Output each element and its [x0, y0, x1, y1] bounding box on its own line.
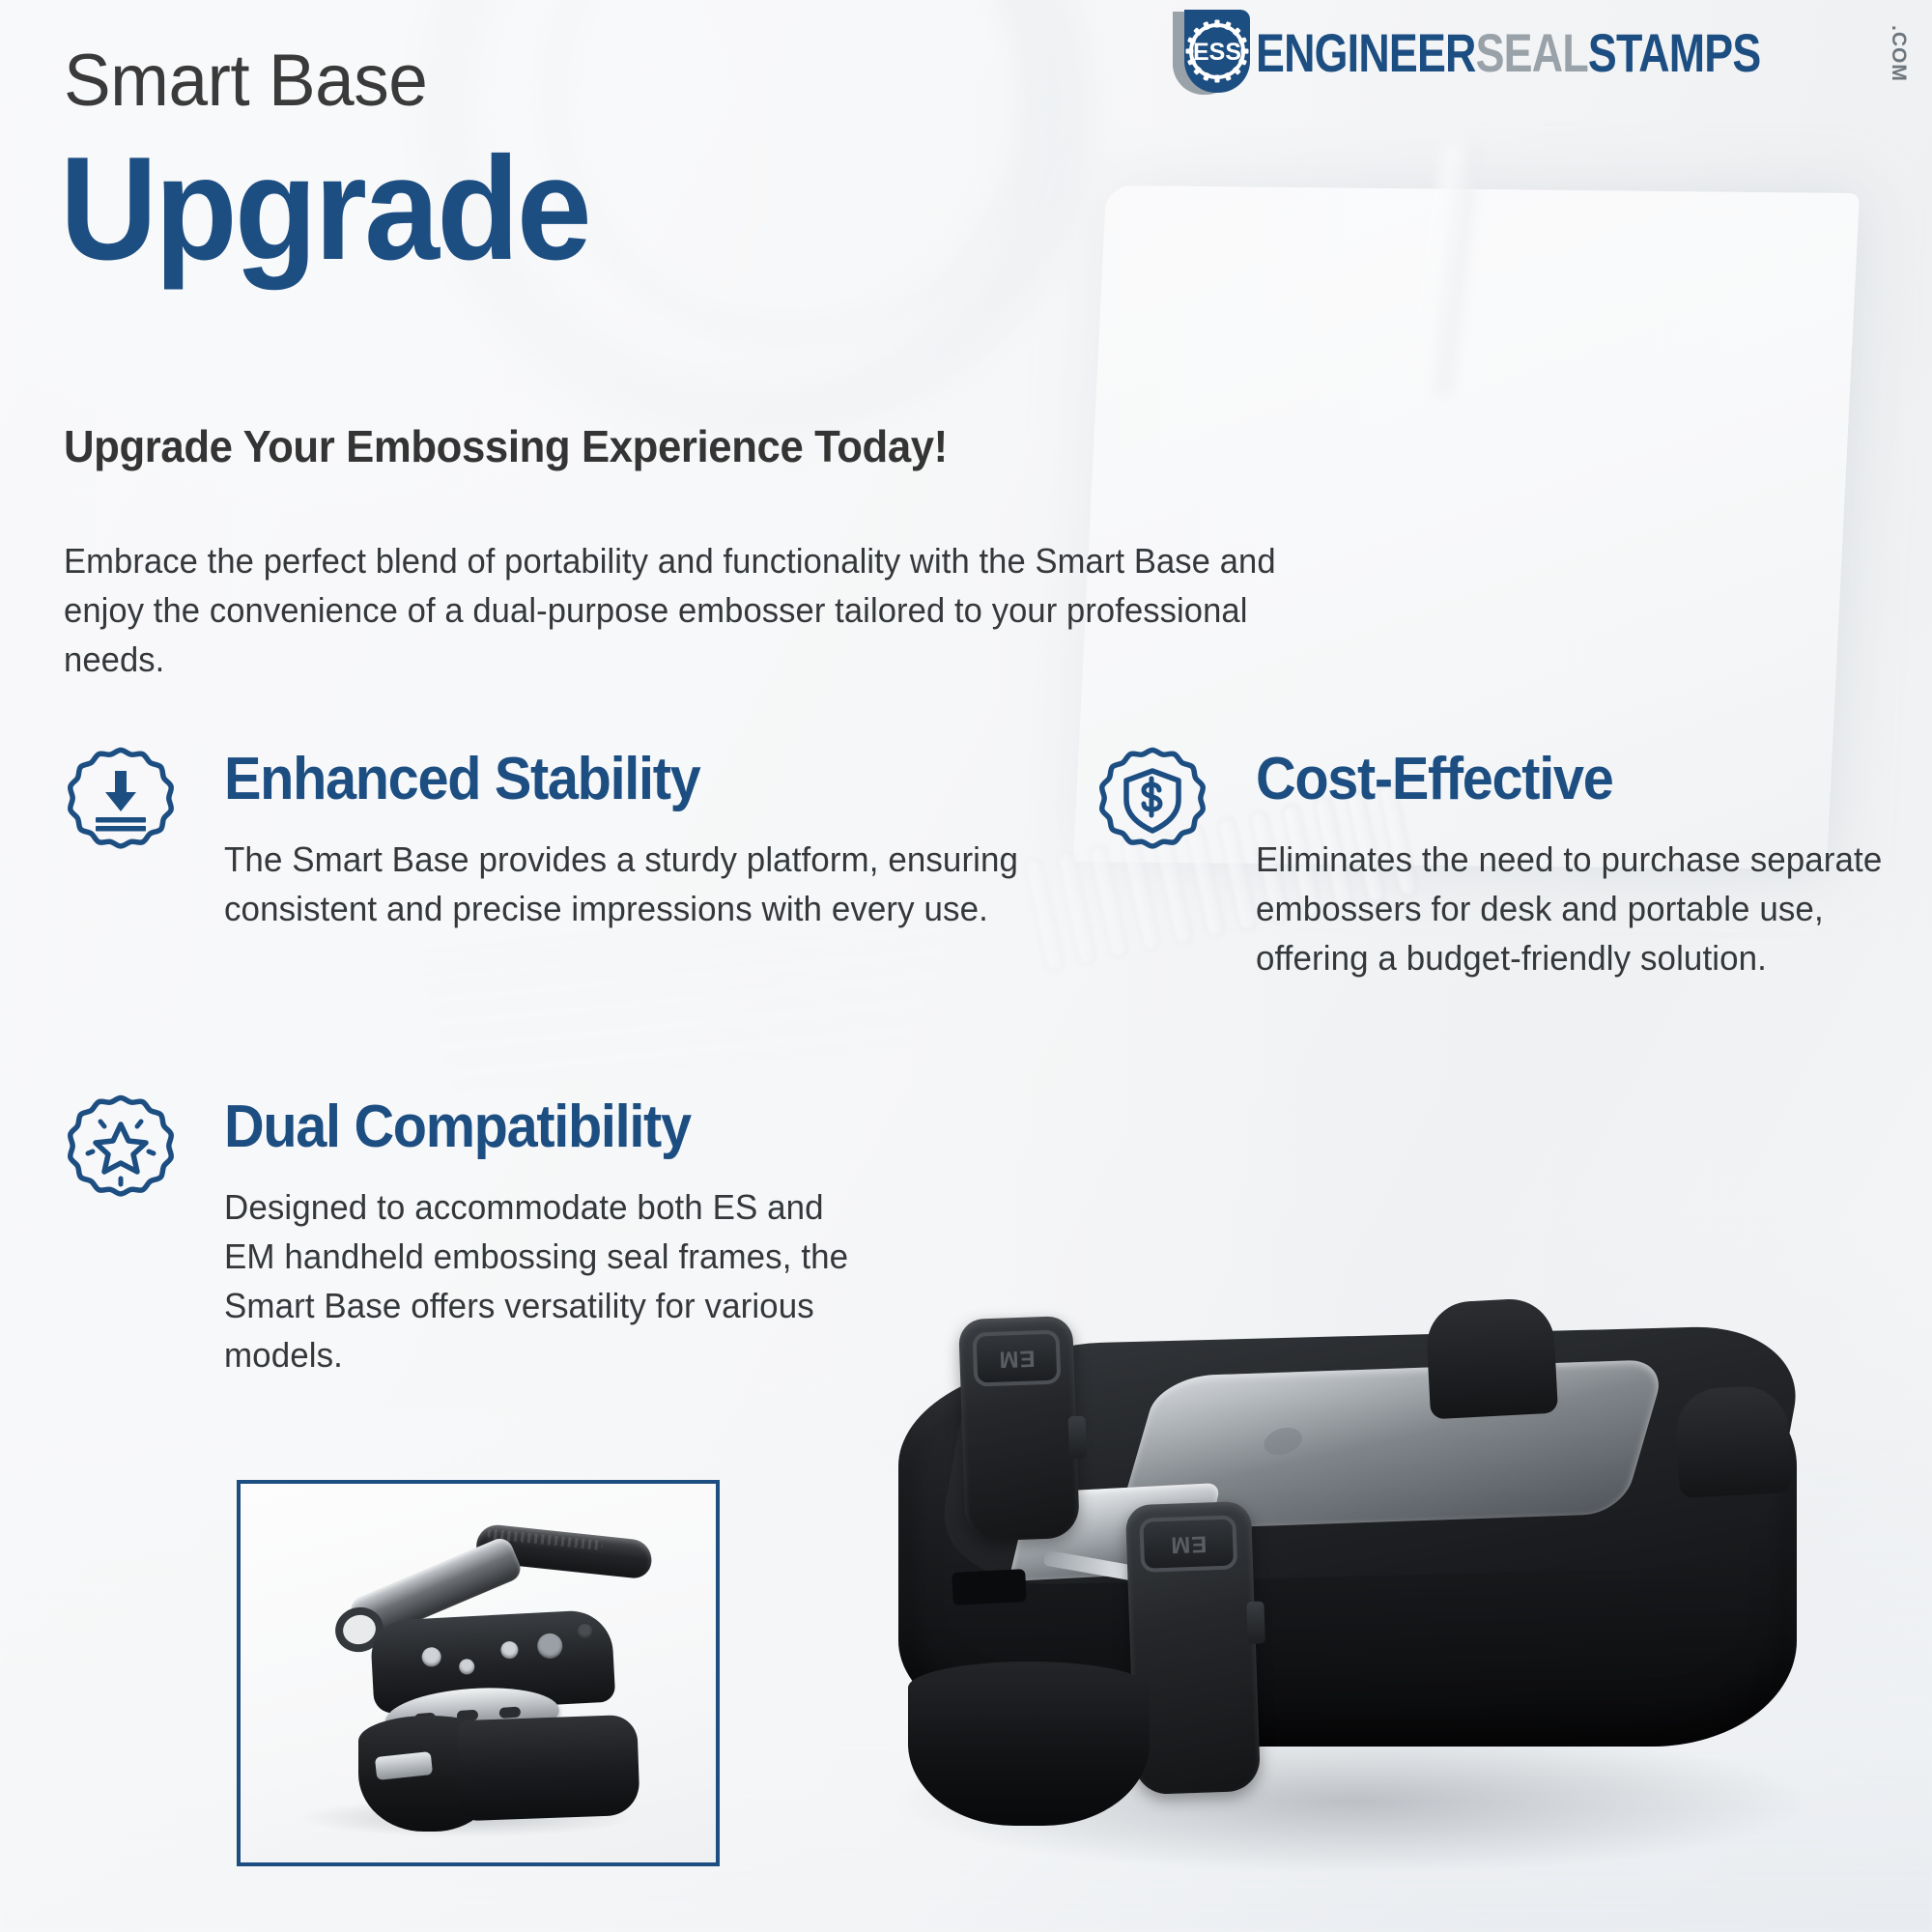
shield-dollar-icon	[1095, 742, 1209, 856]
inset-product-photo	[237, 1480, 720, 1866]
tab-cap: EM	[973, 1329, 1062, 1386]
brand-wordmark: ENGINEER SEAL STAMPS	[1256, 26, 1760, 80]
page-subtitle: Upgrade Your Embossing Experience Today!	[64, 422, 948, 471]
star-sparkle-icon	[64, 1090, 178, 1204]
ess-badge-text: ESS	[1193, 39, 1241, 66]
handheld-embosser-illustration	[314, 1526, 662, 1845]
wordmark-tld: .COM	[1889, 25, 1909, 82]
feature-body: Eliminates the need to purchase separate…	[1256, 835, 1893, 982]
tab-label: EM	[1170, 1529, 1207, 1557]
tab-rib	[1068, 1416, 1088, 1460]
feature-title: Dual Compatibility	[224, 1097, 691, 1157]
feature-title: Enhanced Stability	[224, 750, 699, 810]
wordmark-engineer: ENGINEER	[1256, 26, 1476, 80]
press-stability-icon	[64, 742, 178, 856]
tab-cap: EM	[1139, 1515, 1237, 1572]
intro-paragraph: Embrace the perfect blend of portability…	[64, 536, 1288, 684]
feature-body: The Smart Base provides a sturdy platfor…	[224, 835, 1049, 933]
smart-base-notch-front	[1674, 1384, 1792, 1498]
feature-title: Cost-Effective	[1256, 750, 1612, 810]
ess-badge-icon: ESS	[1167, 8, 1250, 99]
smart-base-tab-rear: EM	[958, 1316, 1080, 1542]
smart-base-foot	[908, 1662, 1150, 1826]
brand-logo[interactable]: ESS ENGINEER SEAL STAMPS .COM	[1167, 12, 1909, 95]
page-title: Upgrade	[60, 135, 589, 282]
smart-base-notch-rear	[1425, 1297, 1558, 1420]
feature-body: Designed to accommodate both ES and EM h…	[224, 1182, 862, 1379]
wordmark-seal: SEAL	[1476, 26, 1588, 80]
smart-base-slot	[952, 1569, 1027, 1605]
tab-label: EM	[998, 1344, 1036, 1372]
smart-base-tray	[457, 1715, 640, 1821]
page-kicker: Smart Base	[64, 44, 427, 118]
hero-product-photo: EM EM	[850, 1246, 1932, 1922]
wordmark-stamps: STAMPS	[1588, 26, 1761, 80]
tab-rib	[1246, 1601, 1265, 1644]
